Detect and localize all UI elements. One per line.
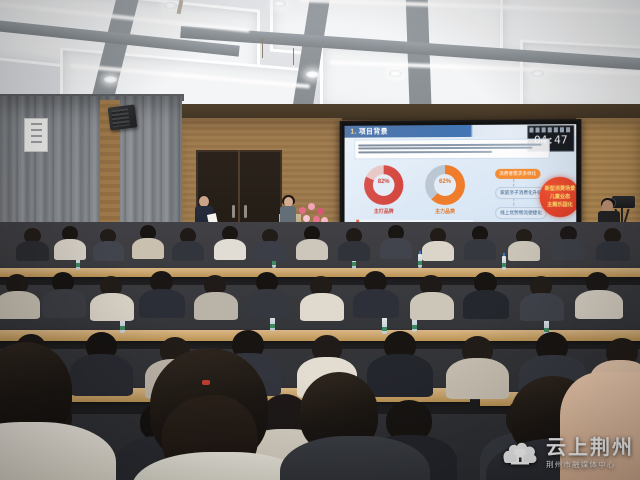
- paragraph-line: [358, 143, 542, 146]
- foreground-person-right: [300, 372, 420, 480]
- flower-bloom: [303, 215, 310, 222]
- door-handle[interactable]: [232, 205, 235, 218]
- audience-shoulders: [93, 241, 124, 261]
- foreground-person-left: [0, 342, 100, 480]
- flower-bloom: [308, 203, 315, 210]
- screenshot-root: 1.项目背景 04:47 82% 主打品牌 62% 主力品类 主打品类 “: [0, 0, 640, 480]
- door-handle[interactable]: [244, 205, 247, 218]
- downlight: [273, 0, 286, 7]
- audience-shoulders: [246, 289, 290, 318]
- audience-shoulders: [596, 241, 630, 261]
- audience-shoulders: [16, 241, 49, 261]
- highlight-line: 新型消费场景: [540, 185, 577, 192]
- audience-shoulders: [90, 293, 134, 321]
- wall-speaker-icon: [108, 104, 138, 130]
- foreground-clothing: [0, 422, 116, 480]
- downlight: [104, 76, 117, 83]
- slide-pill: 消费者需求多样化: [495, 169, 540, 179]
- highlight-line: 儿童业态: [540, 193, 577, 200]
- slide-section-number: 1.: [350, 129, 356, 136]
- slide-pill: 线上优势物流便捷化: [495, 207, 547, 219]
- ceiling-wire: [293, 48, 294, 65]
- audience-shoulders: [300, 293, 344, 321]
- downlight: [306, 71, 319, 78]
- paragraph-line: [358, 151, 492, 154]
- pagoda-icon: [500, 434, 540, 472]
- audience-shoulders: [172, 241, 204, 261]
- watermark-brand: 云上荆州: [546, 438, 634, 458]
- audience-shoulders: [54, 239, 86, 260]
- downlight: [164, 2, 177, 9]
- wall-sign: [24, 118, 48, 152]
- audience-shoulders: [520, 293, 564, 321]
- audience-shoulders: [296, 239, 328, 260]
- audience-shoulders: [410, 292, 454, 320]
- podium-speaker: [280, 197, 296, 223]
- donut-label: 主力品类: [422, 208, 468, 215]
- audience-shoulders: [132, 238, 164, 259]
- water-bottle: [382, 317, 387, 334]
- highlight-line: 主题乐园化: [540, 201, 577, 208]
- water-bottle: [502, 256, 506, 270]
- donut-chart-primary-category: 62%: [425, 165, 465, 205]
- audience-shoulders: [463, 290, 509, 319]
- flower-bloom: [299, 207, 306, 214]
- donut-chart-primary-brand: 82%: [364, 165, 403, 205]
- ceiling-wire: [262, 38, 263, 58]
- paragraph-line: [358, 147, 532, 150]
- downlight: [531, 70, 544, 77]
- audience-shoulders: [42, 289, 86, 318]
- hair-tie: [202, 380, 210, 385]
- foreground-clothing: [280, 436, 430, 480]
- slide-highlight-circle: 新型消费场景 儿童业态 主题乐园化: [540, 177, 577, 218]
- donut-label: 主打品牌: [361, 208, 406, 215]
- timer-segment-bar: [529, 127, 572, 132]
- slide-title: 1.项目背景: [350, 126, 387, 136]
- watermark-text: 云上荆州 荆州市融媒体中心: [546, 438, 634, 469]
- audience-shoulders: [380, 238, 412, 259]
- flower-bloom: [317, 208, 324, 215]
- audience-shoulders: [575, 290, 623, 319]
- watermark-subtitle: 荆州市融媒体中心: [546, 461, 634, 469]
- audience-shoulders: [508, 241, 540, 261]
- audience-shoulders: [139, 289, 185, 318]
- donut-percent: 82%: [364, 179, 403, 185]
- audience-shoulders: [194, 292, 238, 320]
- audience-shoulders: [214, 239, 246, 260]
- downlight: [389, 70, 402, 77]
- audience-shoulders: [254, 241, 286, 261]
- audience-shoulders: [464, 239, 496, 260]
- audience-shoulders: [552, 239, 585, 260]
- audience-shoulders: [0, 291, 40, 319]
- slide-paragraph-box: [354, 138, 549, 159]
- slide-title-text: 项目背景: [359, 128, 388, 135]
- audience-shoulders: [353, 289, 399, 318]
- donut-percent: 62%: [425, 179, 465, 185]
- audience-shoulders: [422, 241, 454, 261]
- audience-shoulders: [338, 241, 370, 261]
- broadcaster-watermark: 云上荆州 荆州市融媒体中心: [500, 434, 634, 472]
